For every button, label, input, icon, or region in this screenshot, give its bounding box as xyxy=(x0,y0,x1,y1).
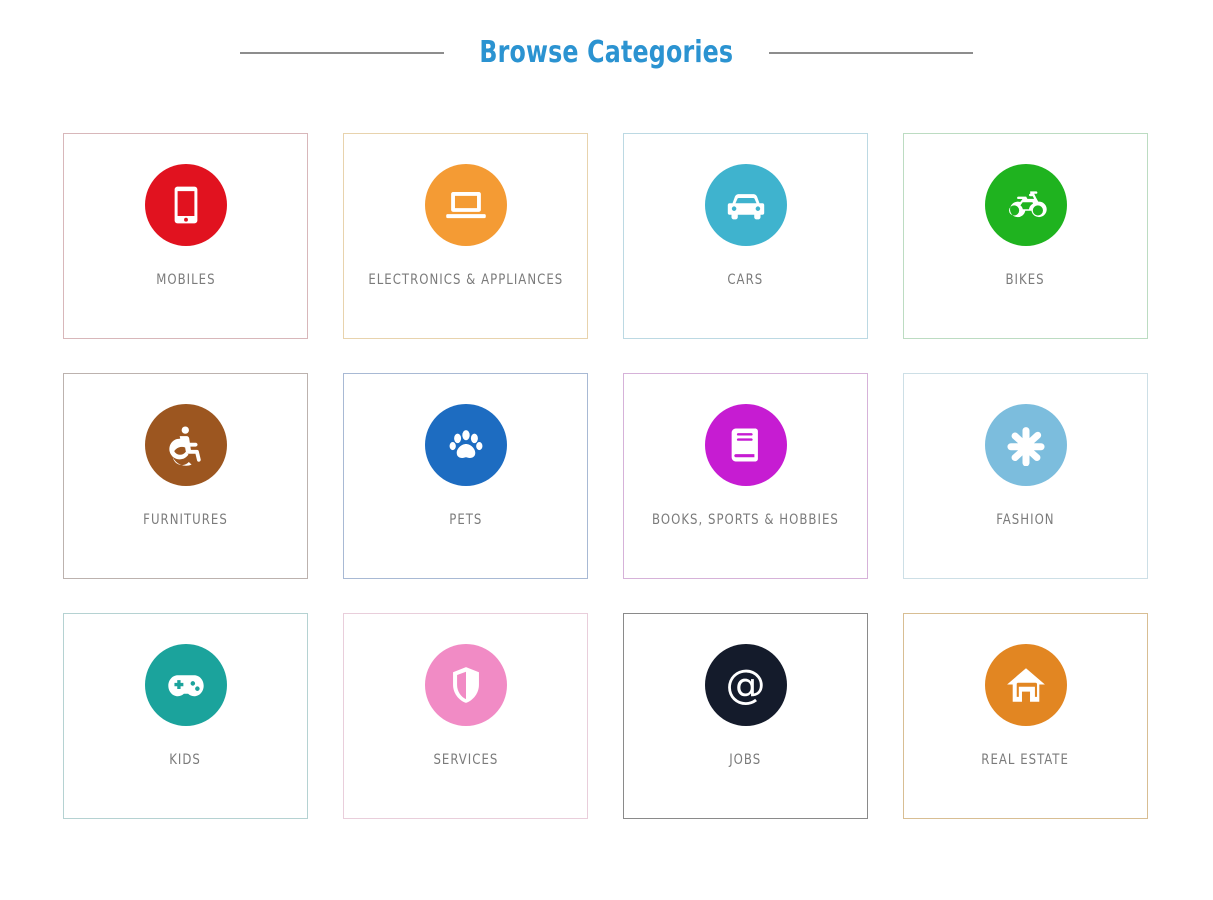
at-sign-icon: @ xyxy=(705,644,787,726)
category-card[interactable]: SERVICES xyxy=(343,613,588,819)
category-card[interactable]: CARS xyxy=(623,133,868,339)
asterisk-flower-icon xyxy=(985,404,1067,486)
category-label: BOOKS, SPORTS & HOBBIES xyxy=(652,512,839,528)
category-label: PETS xyxy=(449,512,482,528)
wheelchair-icon xyxy=(145,404,227,486)
laptop-icon xyxy=(425,164,507,246)
category-grid: MOBILESELECTRONICS & APPLIANCESCARSBIKES… xyxy=(63,133,1147,819)
heading-rule-left xyxy=(240,52,444,54)
browse-categories-page: Browse Categories MOBILESELECTRONICS & A… xyxy=(0,0,1213,900)
category-label: FURNITURES xyxy=(143,512,228,528)
category-card[interactable]: PETS xyxy=(343,373,588,579)
home-icon xyxy=(985,644,1067,726)
motorcycle-icon xyxy=(985,164,1067,246)
page-title: Browse Categories xyxy=(480,38,734,68)
car-icon xyxy=(705,164,787,246)
category-card[interactable]: FURNITURES xyxy=(63,373,308,579)
heading-rule-right xyxy=(769,52,973,54)
mobile-phone-icon xyxy=(145,164,227,246)
book-icon xyxy=(705,404,787,486)
category-label: REAL ESTATE xyxy=(982,752,1070,768)
gamepad-icon xyxy=(145,644,227,726)
shield-icon xyxy=(425,644,507,726)
category-card[interactable]: MOBILES xyxy=(63,133,308,339)
section-heading: Browse Categories xyxy=(0,38,1213,68)
category-card[interactable]: BIKES xyxy=(903,133,1148,339)
category-card[interactable]: @JOBS xyxy=(623,613,868,819)
category-label: FASHION xyxy=(996,512,1054,528)
category-card[interactable]: KIDS xyxy=(63,613,308,819)
category-card[interactable]: FASHION xyxy=(903,373,1148,579)
category-label: MOBILES xyxy=(156,272,215,288)
category-card[interactable]: BOOKS, SPORTS & HOBBIES xyxy=(623,373,868,579)
category-card[interactable]: REAL ESTATE xyxy=(903,613,1148,819)
paw-print-icon xyxy=(425,404,507,486)
category-label: BIKES xyxy=(1006,272,1045,288)
category-label: JOBS xyxy=(729,752,761,768)
category-card[interactable]: ELECTRONICS & APPLIANCES xyxy=(343,133,588,339)
category-label: KIDS xyxy=(170,752,202,768)
category-label: CARS xyxy=(728,272,764,288)
category-label: SERVICES xyxy=(433,752,498,768)
category-label: ELECTRONICS & APPLIANCES xyxy=(368,272,563,288)
